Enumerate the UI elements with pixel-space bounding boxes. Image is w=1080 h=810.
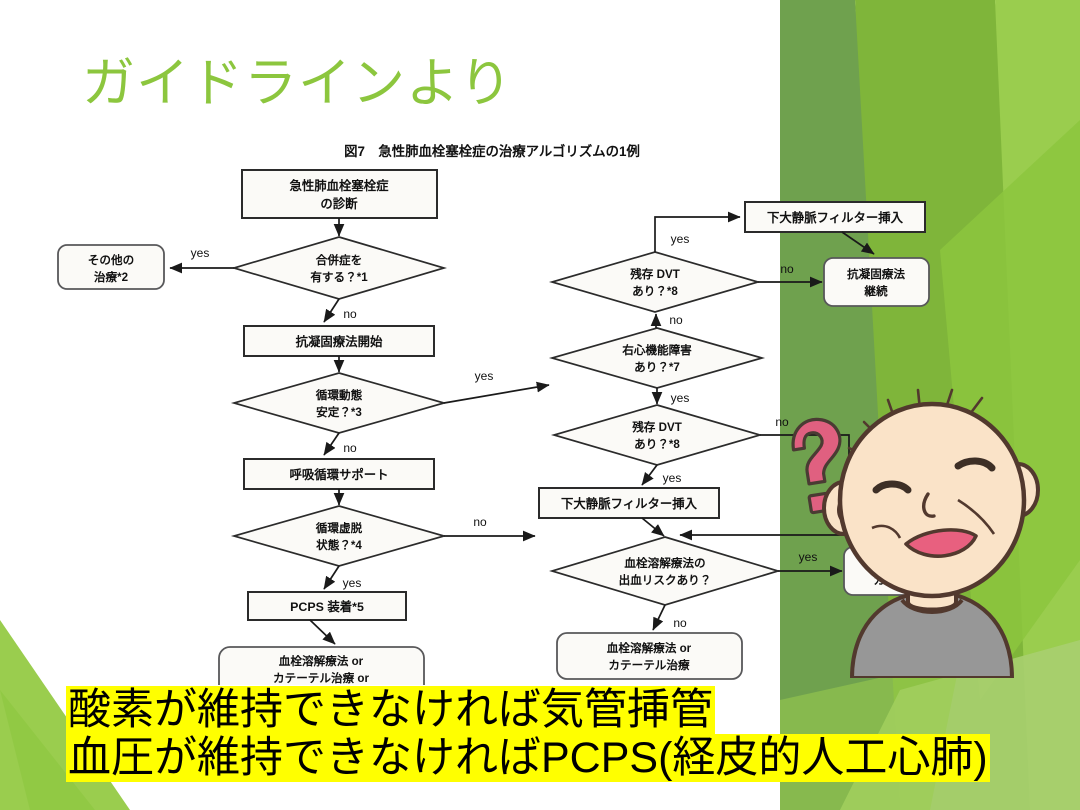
edge-label-rv-yes: yes bbox=[671, 391, 690, 405]
caption-line-1-wrap: 酸素が維持できなければ気管挿管 bbox=[66, 686, 990, 734]
node-hemodynamics-line1: 循環動態 bbox=[315, 388, 363, 402]
node-rv-dysfunction-line1: 右心機能障害 bbox=[621, 343, 692, 357]
node-hemodynamics bbox=[234, 373, 444, 433]
edge-complication-no bbox=[324, 299, 339, 322]
edge-label-complication-no: no bbox=[343, 307, 357, 321]
edge-label-dvt-top-no: no bbox=[780, 262, 794, 276]
node-hemodynamics-line2: 安定？*3 bbox=[316, 405, 362, 419]
node-ivc-filter-mid-label: 下大静脈フィルター挿入 bbox=[561, 496, 698, 511]
node-other-treatment-line2: 治療*2 bbox=[94, 270, 128, 284]
edge-label-bleeding-no: no bbox=[673, 616, 687, 630]
edge-hemodynamics-no bbox=[324, 433, 339, 455]
node-thrombolysis-line2: カテーテル治療 bbox=[608, 658, 690, 672]
node-pcps-label: PCPS 装着*5 bbox=[290, 599, 364, 614]
edge-label-dvt-mid-yes: yes bbox=[663, 471, 682, 485]
edge-dvt-top-yes bbox=[655, 217, 740, 252]
node-dvt-mid bbox=[554, 405, 760, 465]
head bbox=[840, 404, 1024, 596]
caption-line-2: 血圧が維持できなければPCPS(経皮的人工心肺) bbox=[66, 734, 990, 782]
edge-label-rv-no: no bbox=[669, 313, 683, 327]
node-dvt-top-line1: 残存 DVT bbox=[629, 267, 680, 281]
edge-ivc-top-to-anticoag-continue bbox=[842, 232, 874, 254]
node-bleeding-risk-line2: 出血リスクあり？ bbox=[619, 573, 712, 587]
edge-label-dvt-top-yes: yes bbox=[671, 232, 690, 246]
node-bleeding-risk bbox=[552, 537, 778, 605]
node-thrombolysis-line1: 血栓溶解療法 or bbox=[607, 641, 692, 655]
node-dvt-top-line2: あり？*8 bbox=[632, 285, 678, 298]
edge-label-collapse-no: no bbox=[473, 515, 487, 529]
edge-label-collapse-yes: yes bbox=[343, 576, 362, 590]
slide-canvas: ガイドラインより .nodebox{fill:#FBFAF7;stroke:#5… bbox=[0, 0, 1080, 810]
edge-bleeding-no bbox=[653, 605, 665, 630]
node-resp-support-label: 呼吸循環サポート bbox=[289, 467, 388, 482]
node-collapse bbox=[234, 506, 444, 566]
edge-collapse-yes bbox=[324, 566, 339, 589]
edge-hemodynamics-yes bbox=[444, 385, 549, 403]
node-dvt-top bbox=[552, 252, 758, 312]
edge-label-complication-yes: yes bbox=[191, 246, 210, 260]
caption-line-1: 酸素が維持できなければ気管挿管 bbox=[66, 686, 715, 734]
node-bleeding-risk-line1: 血栓溶解療法の bbox=[624, 556, 705, 570]
node-collapse-line2: 状態？*4 bbox=[316, 538, 362, 552]
edge-pcps-to-terminal bbox=[310, 620, 335, 644]
node-left-terminal-line2: カテーテル治療 or bbox=[273, 671, 369, 685]
node-complication-line1: 合併症を bbox=[315, 253, 362, 267]
node-dvt-mid-line2: あり？*8 bbox=[634, 438, 680, 451]
node-complication bbox=[234, 237, 444, 299]
node-diagnosis-line2: の診断 bbox=[320, 196, 358, 211]
node-dvt-mid-line1: 残存 DVT bbox=[631, 420, 682, 434]
caption-block: 酸素が維持できなければ気管挿管 血圧が維持できなければPCPS(経皮的人工心肺) bbox=[66, 686, 990, 782]
node-rv-dysfunction bbox=[552, 328, 762, 388]
node-anticoag-continue-line2: 継続 bbox=[863, 284, 888, 298]
edge-ivc-mid-to-bleeding bbox=[642, 518, 664, 536]
node-anticoag-start-label: 抗凝固療法開始 bbox=[296, 334, 383, 349]
node-diagnosis-line1: 急性肺血栓塞栓症 bbox=[289, 178, 389, 193]
figure-caption: 図7 急性肺血栓塞栓症の治療アルゴリズムの1例 bbox=[344, 143, 640, 159]
node-collapse-line1: 循環虚脱 bbox=[315, 521, 363, 535]
page-title: ガイドラインより bbox=[82, 54, 513, 115]
edge-dvt-mid-yes bbox=[642, 465, 657, 485]
node-left-terminal-line1: 血栓溶解療法 or bbox=[279, 654, 364, 668]
edge-label-hemodynamics-yes: yes bbox=[475, 369, 494, 383]
node-ivc-filter-top-label: 下大静脈フィルター挿入 bbox=[767, 210, 904, 225]
node-other-treatment-line1: その他の bbox=[88, 253, 134, 267]
node-thrombolysis bbox=[557, 633, 742, 679]
node-complication-line2: 有する？*1 bbox=[310, 270, 368, 284]
edge-label-hemodynamics-no: no bbox=[343, 441, 357, 455]
node-anticoag-continue-line1: 抗凝固療法 bbox=[847, 267, 905, 281]
elderly-man-character bbox=[800, 378, 1080, 678]
node-rv-dysfunction-line2: あり？*7 bbox=[634, 361, 680, 374]
node-anticoag-continue bbox=[824, 258, 929, 306]
caption-line-2-wrap: 血圧が維持できなければPCPS(経皮的人工心肺) bbox=[66, 734, 990, 782]
